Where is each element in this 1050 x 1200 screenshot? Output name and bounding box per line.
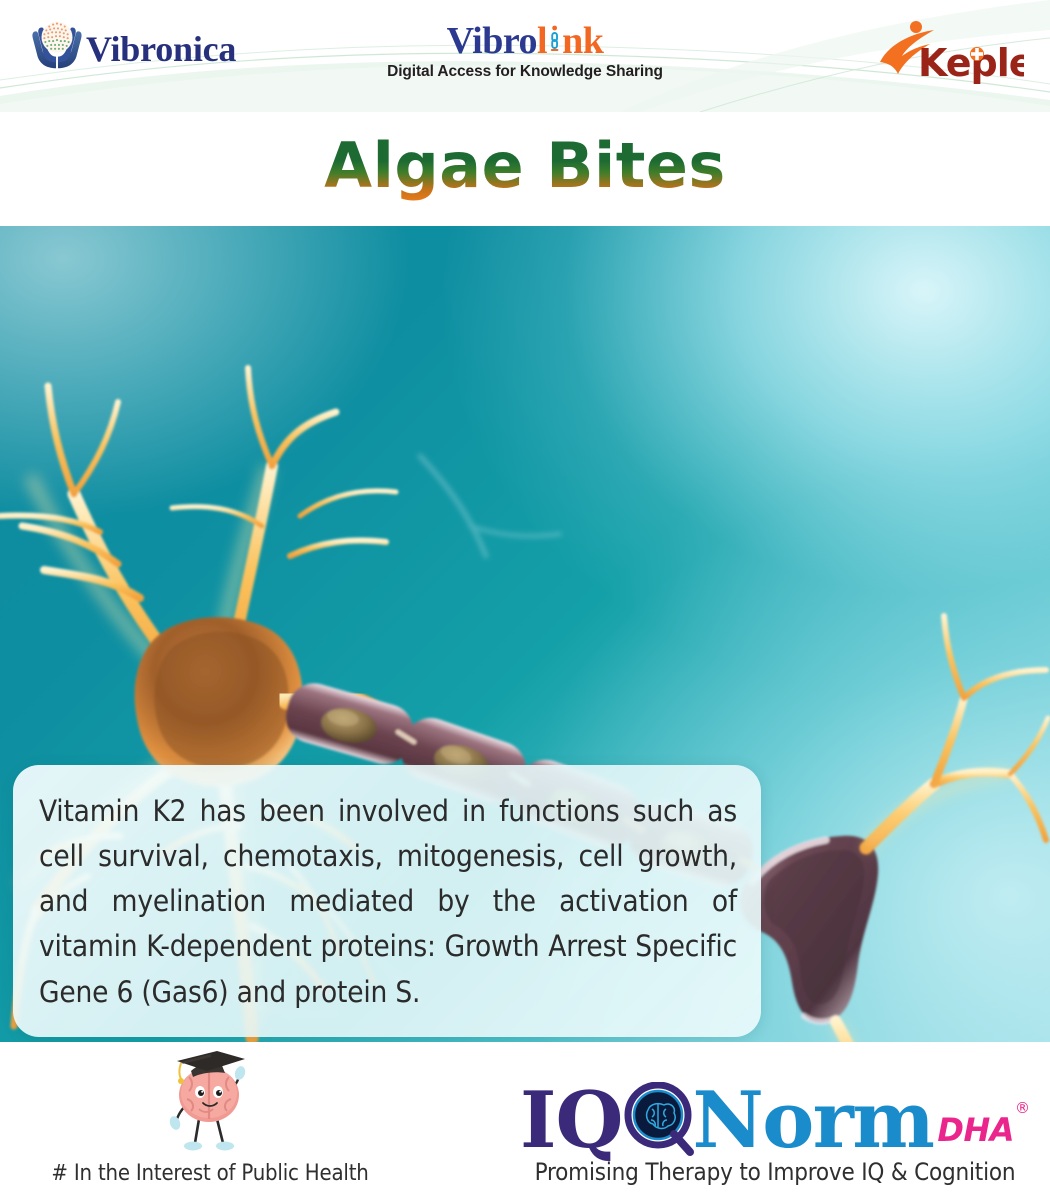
iqnorm-block[interactable]: IQ <box>500 1042 1050 1200</box>
brand-vibrolink[interactable]: Vibrol nk Digital Access for Knowledge S… <box>387 22 663 81</box>
vibrolink-part-l: l <box>537 20 547 62</box>
page-title: Algae Bites <box>324 135 726 203</box>
brand-vibronica[interactable]: Vibronica <box>26 12 236 74</box>
poster-root: Vibronica Vibrol nk Digital Access for K… <box>0 0 1050 1200</box>
public-health-label: # In the Interest of Public Health <box>51 1161 368 1186</box>
header-bar: Vibronica Vibrol nk Digital Access for K… <box>0 0 1050 112</box>
vibrolink-tagline: Digital Access for Knowledge Sharing <box>387 63 663 81</box>
iqnorm-iq-text: IQ <box>520 1087 622 1154</box>
brand-kepler[interactable]: Kepler <box>864 16 1024 88</box>
graduate-brain-mascot-icon <box>147 1047 273 1159</box>
quote-text: Vitamin K2 has been involved in function… <box>39 789 737 1015</box>
vibrolink-part-vibro: Vibro <box>447 20 537 62</box>
iqnorm-norm-text: Norm <box>692 1087 933 1154</box>
vibronica-wordmark: Vibronica <box>86 31 236 67</box>
chain-link-icon <box>547 25 562 55</box>
vibrolink-wordmark: Vibrol nk <box>387 22 663 60</box>
public-health-block: # In the Interest of Public Health <box>0 1042 420 1200</box>
brain-magnifier-icon <box>624 1080 698 1154</box>
title-band: Algae Bites <box>0 112 1050 226</box>
quote-card: Vitamin K2 has been involved in function… <box>13 765 761 1037</box>
iqnorm-dha-text: DHA <box>937 1114 1014 1146</box>
svg-text:Kepler: Kepler <box>918 41 1024 85</box>
hands-holding-sphere-icon <box>26 12 88 74</box>
hero-image-region: Vitamin K2 has been involved in function… <box>0 226 1050 1042</box>
vibrolink-part-nk: nk <box>562 20 603 62</box>
orange-cross-icon <box>970 47 984 61</box>
kepler-logo: Kepler <box>864 16 1024 88</box>
iqnorm-logo: IQ <box>520 1080 1030 1154</box>
footer-bar: # In the Interest of Public Health IQ <box>0 1042 1050 1200</box>
registered-trademark-icon: ® <box>1015 1101 1030 1116</box>
